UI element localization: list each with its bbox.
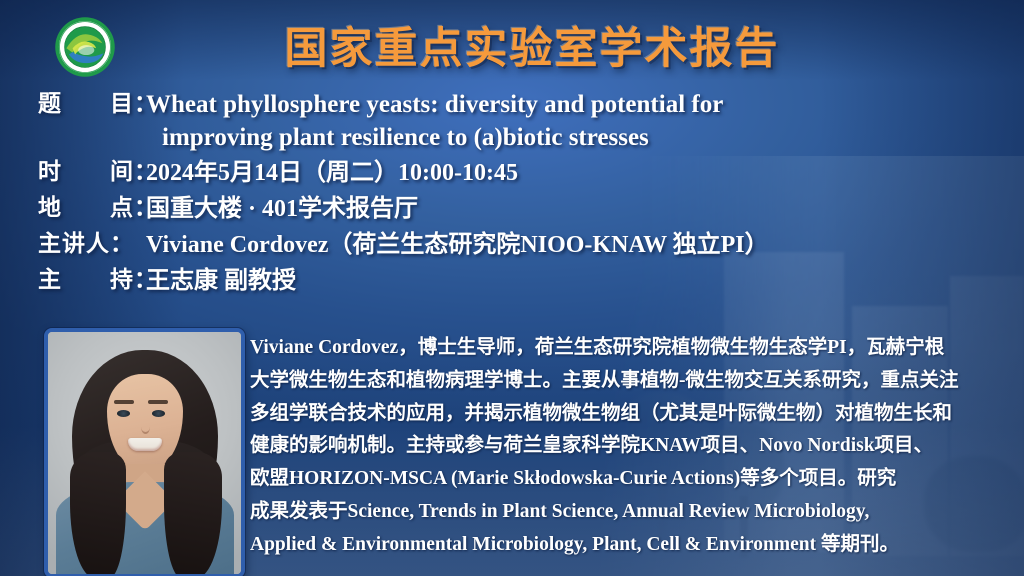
portrait-smile xyxy=(128,438,162,451)
info-value-topic: Wheat phyllosphere yeasts: diversity and… xyxy=(146,88,1000,154)
info-row-time: 时 间： 2024年5月14日（周二）10:00-10:45 xyxy=(38,156,1000,190)
bio-line: 健康的影响机制。主持或参与荷兰皇家科学院KNAW项目、Novo Nordisk项… xyxy=(250,430,1002,463)
info-value-location: 国重大楼 · 401学术报告厅 xyxy=(146,192,1000,226)
bio-line: 大学微生物生态和植物病理学博士。主要从事植物-微生物交互关系研究，重点关注 xyxy=(250,365,1002,398)
seminar-poster: 国家重点实验室学术报告 题 目： Wheat phyllosphere yeas… xyxy=(0,0,1024,576)
info-label-speaker: 主讲人： xyxy=(38,228,146,261)
info-value-host: 王志康 副教授 xyxy=(146,264,1000,298)
seminar-info-block: 题 目： Wheat phyllosphere yeasts: diversit… xyxy=(38,88,1000,300)
bio-line: 多组学联合技术的应用，并揭示植物微生物组（尤其是叶际微生物）对植物生长和 xyxy=(250,398,1002,431)
info-row-location: 地 点： 国重大楼 · 401学术报告厅 xyxy=(38,192,1000,226)
portrait-nose xyxy=(141,420,150,434)
portrait-brow-right xyxy=(148,400,168,404)
bio-line: Viviane Cordovez，博士生导师，荷兰生态研究院植物微生物生态学PI… xyxy=(250,332,1002,365)
topic-line-2: improving plant resilience to (a)biotic … xyxy=(146,121,1000,154)
speaker-portrait xyxy=(44,328,245,576)
info-row-topic: 题 目： Wheat phyllosphere yeasts: diversit… xyxy=(38,88,1000,154)
portrait-hair-front-right xyxy=(164,452,222,576)
portrait-hair-front-left xyxy=(70,452,126,576)
info-label-host: 主 持： xyxy=(38,264,146,297)
poster-header: 国家重点实验室学术报告 xyxy=(0,0,1024,84)
info-value-time: 2024年5月14日（周二）10:00-10:45 xyxy=(146,156,1000,190)
info-row-host: 主 持： 王志康 副教授 xyxy=(38,264,1000,298)
topic-line-1: Wheat phyllosphere yeasts: diversity and… xyxy=(146,91,723,118)
bio-line: Applied & Environmental Microbiology, Pl… xyxy=(250,529,1002,562)
portrait-brow-left xyxy=(114,400,134,404)
bio-line: 成果发表于Science, Trends in Plant Science, A… xyxy=(250,496,1002,529)
speaker-biography: Viviane Cordovez，博士生导师，荷兰生态研究院植物微生物生态学PI… xyxy=(250,332,1002,561)
info-label-location: 地 点： xyxy=(38,192,146,225)
info-label-time: 时 间： xyxy=(38,156,146,189)
page-title: 国家重点实验室学术报告 xyxy=(0,14,1024,76)
bio-line: 欧盟HORIZON-MSCA (Marie Skłodowska-Curie A… xyxy=(250,463,1002,496)
portrait-eye-right xyxy=(152,410,165,417)
info-row-speaker: 主讲人： Viviane Cordovez（荷兰生态研究院NIOO-KNAW 独… xyxy=(38,228,1000,262)
info-label-topic: 题 目： xyxy=(38,88,146,121)
portrait-eye-left xyxy=(117,410,130,417)
info-value-speaker: Viviane Cordovez（荷兰生态研究院NIOO-KNAW 独立PI） xyxy=(146,228,1000,262)
portrait-photo xyxy=(48,332,241,574)
